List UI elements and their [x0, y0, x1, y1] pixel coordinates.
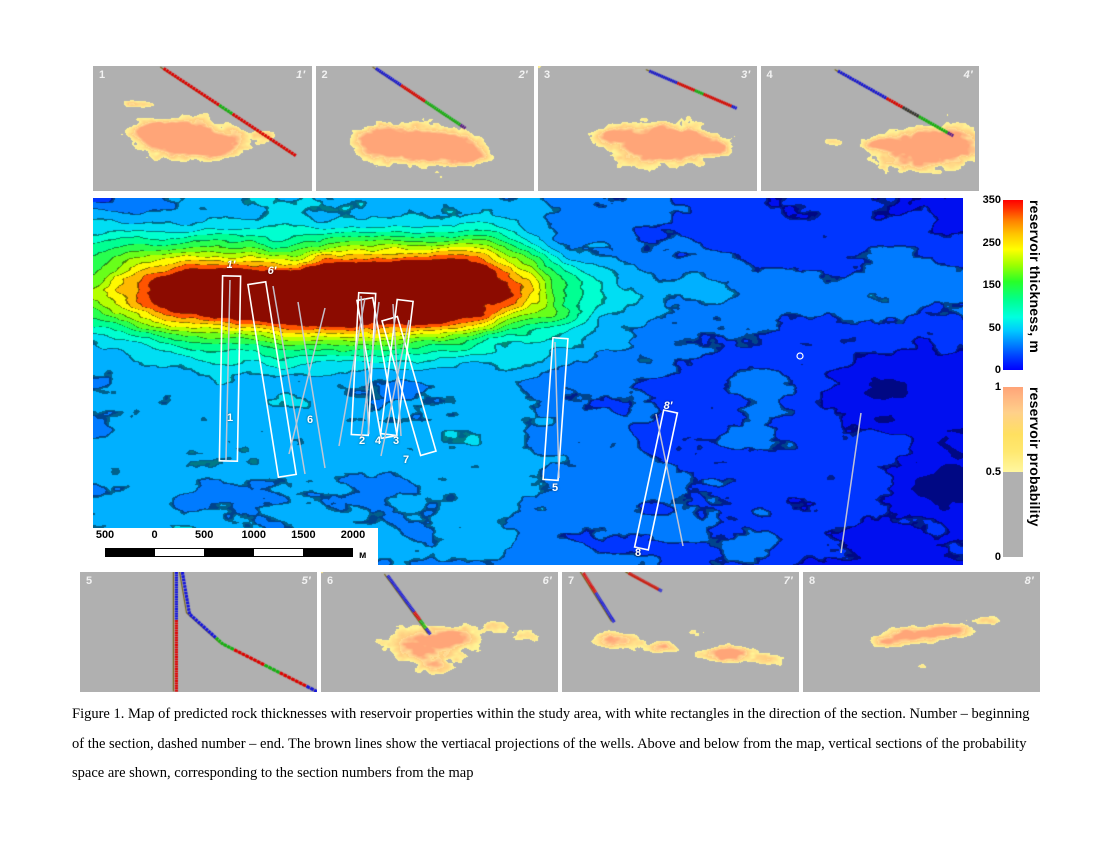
scale-segment: [155, 549, 204, 556]
probability-colorbar: 10.50 reservoir probability: [975, 387, 1043, 557]
cross-section-panel-3[interactable]: 3 3′: [538, 66, 757, 191]
cross-section-canvas: [803, 572, 1040, 692]
scale-segment: [106, 549, 155, 556]
section-start-label: 4: [767, 69, 773, 81]
map-section-label: 8: [635, 547, 641, 559]
cross-section-panel-6[interactable]: 6 6′: [321, 572, 558, 692]
colorbar-tick-label: 250: [983, 237, 1001, 249]
cross-section-canvas: [316, 66, 530, 191]
cross-section-canvas: [538, 66, 752, 191]
cross-section-panel-5[interactable]: 5 5′: [80, 572, 317, 692]
colorbar-tick-label: 150: [983, 279, 1001, 291]
map-section-label: 1′: [227, 259, 236, 271]
map-section-label: 7: [403, 454, 409, 466]
thickness-colorbar-ticks: 350250150500: [975, 200, 1003, 370]
section-end-label: 2′: [519, 69, 528, 81]
top-section-row: 1 1′ 2 2′ 3 3′ 4 4′: [93, 66, 979, 191]
map-section-label: 2: [359, 435, 365, 447]
scale-bar-unit: м: [359, 550, 366, 561]
section-start-label: 1: [99, 69, 105, 81]
section-end-label: 3′: [741, 69, 750, 81]
cross-section-panel-1[interactable]: 1 1′: [93, 66, 312, 191]
colorbar-tick-label: 50: [989, 322, 1001, 334]
section-end-label: 8′: [1025, 575, 1034, 587]
thickness-colorbar: 350250150500 reservoir thickness, m: [975, 200, 1043, 370]
scale-bar-ticks: 5000500100015002000: [93, 529, 378, 545]
cross-section-canvas: [562, 572, 799, 692]
map-section-label: 4: [375, 435, 381, 447]
thickness-colorbar-title: reservoir thickness, m: [1027, 200, 1043, 370]
main-map[interactable]: 1′16′6243758′8: [93, 198, 963, 565]
section-end-label: 4′: [964, 69, 973, 81]
scale-tick-label: 0: [152, 529, 158, 541]
colorbar-tick-label: 350: [983, 194, 1001, 206]
bottom-section-row: 5 5′ 6 6′ 7 7′ 8 8′: [80, 572, 1040, 692]
scale-segment: [303, 549, 352, 556]
section-start-label: 7: [568, 575, 574, 587]
colorbar-tick-label: 0: [995, 364, 1001, 376]
probability-colorbar-title: reservoir probability: [1027, 387, 1043, 557]
well-projection-line: [841, 413, 861, 553]
section-start-label: 5: [86, 575, 92, 587]
map-section-label: 5: [552, 482, 558, 494]
cross-section-panel-2[interactable]: 2 2′: [316, 66, 535, 191]
probability-color-strip: [1003, 387, 1023, 557]
probability-colorbar-ticks: 10.50: [975, 387, 1003, 557]
section-end-label: 5′: [302, 575, 311, 587]
section-start-label: 8: [809, 575, 815, 587]
cross-section-canvas: [80, 572, 317, 692]
section-start-label: 3: [544, 69, 550, 81]
scale-bar: 5000500100015002000 м: [93, 528, 378, 565]
map-section-label: 6: [307, 414, 313, 426]
section-end-label: 7′: [784, 575, 793, 587]
section-rectangles-overlay: [93, 198, 963, 565]
thickness-color-strip: [1003, 200, 1023, 370]
cross-section-panel-8[interactable]: 8 8′: [803, 572, 1040, 692]
well-projection-line: [226, 280, 230, 460]
well-marker: [797, 353, 803, 359]
cross-section-canvas: [761, 66, 975, 191]
well-projection-line: [555, 342, 559, 478]
figure-root: 1 1′ 2 2′ 3 3′ 4 4′: [0, 0, 1100, 850]
map-section-label: 6′: [268, 265, 277, 277]
section-start-label: 6: [327, 575, 333, 587]
map-section-label: 8′: [664, 400, 673, 412]
scale-segment: [204, 549, 253, 556]
scale-tick-label: 1500: [291, 529, 315, 541]
map-section-label: 1: [227, 412, 233, 424]
cross-section-canvas: [321, 572, 558, 692]
section-start-label: 2: [322, 69, 328, 81]
scale-tick-label: 500: [96, 529, 114, 541]
map-section-label: 3: [393, 435, 399, 447]
colorbar-tick-label: 0.5: [986, 466, 1001, 478]
scale-tick-label: 500: [195, 529, 213, 541]
figure-caption: Figure 1. Map of predicted rock thicknes…: [72, 700, 1032, 789]
cross-section-panel-7[interactable]: 7 7′: [562, 572, 799, 692]
colorbar-tick-label: 1: [995, 381, 1001, 393]
scale-bar-graphic: [105, 548, 353, 557]
colorbar-tick-label: 0: [995, 551, 1001, 563]
section-end-label: 1′: [296, 69, 305, 81]
scale-segment: [254, 549, 303, 556]
cross-section-canvas: [93, 66, 307, 191]
section-rect-8: [635, 410, 678, 550]
well-projection-line: [656, 414, 683, 546]
section-end-label: 6′: [543, 575, 552, 587]
figure-caption-text: Figure 1. Map of predicted rock thicknes…: [72, 700, 1032, 789]
scale-tick-label: 2000: [341, 529, 365, 541]
scale-tick-label: 1000: [242, 529, 266, 541]
cross-section-panel-4[interactable]: 4 4′: [761, 66, 980, 191]
